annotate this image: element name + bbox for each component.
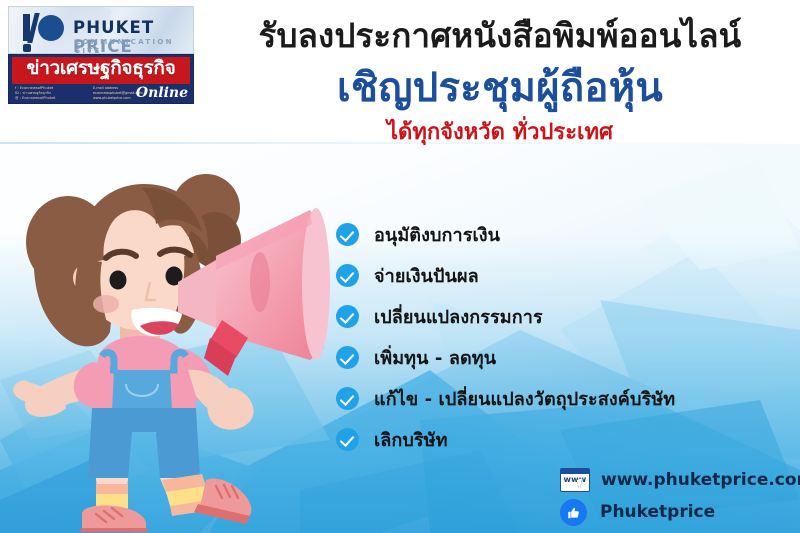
logo-upper-panel: PHUKET PRICE COMMUNICATION SITE (8, 6, 194, 54)
headline-secondary: เชิญประชุมผู้ถือหุ้น (200, 62, 800, 114)
list-item[interactable]: เปลี่ยนแปลงกรรมการ (336, 296, 756, 337)
poster-canvas: PHUKET PRICE COMMUNICATION SITE ข่าวเศรษ… (0, 0, 800, 533)
check-circle-icon (336, 223, 359, 246)
website-row[interactable]: www www.phuketprice.com (560, 464, 800, 496)
logo-online-label: Online (136, 85, 188, 101)
check-circle-icon (336, 305, 359, 328)
headline-tagline: ได้ทุกจังหวัด ทั่วประเทศ (200, 118, 800, 148)
headline-primary: รับลงประกาศหนังสือพิมพ์ออนไลน์ (200, 14, 800, 58)
list-item-label: เพิ่มทุน - ลดทุน (374, 343, 496, 372)
check-circle-icon (336, 346, 359, 369)
logo-banner-thai: ข่าวเศรษฐกิจธุรกิจ (15, 55, 187, 82)
check-circle-icon (336, 264, 359, 287)
logo-k-dot-icon (23, 44, 31, 52)
list-item-label: เปลี่ยนแปลงกรรมการ (374, 302, 543, 331)
list-item-label: อนุมัติงบการเงิน (374, 220, 500, 249)
browser-www-icon: www (560, 468, 590, 492)
list-item-label: จ่ายเงินปันผล (374, 261, 479, 290)
list-item[interactable]: เลิกบริษัท (336, 419, 756, 460)
list-item-label: เลิกบริษัท (374, 425, 448, 454)
logo-brand-primary: PHUKET (73, 18, 154, 37)
list-item[interactable]: แก้ไข - เปลี่ยนแปลงวัตถุประสงค์บริษัท (336, 378, 756, 419)
facebook-row[interactable]: Phuketprice (560, 496, 800, 528)
check-circle-icon (336, 428, 359, 451)
browser-titlebar (561, 469, 589, 474)
browser-www-label: www (561, 475, 589, 484)
list-item[interactable]: อนุมัติงบการเงิน (336, 214, 756, 255)
logo-bottom-edge (8, 104, 194, 116)
facebook-thumbs-up-icon (560, 499, 587, 526)
brand-logo[interactable]: PHUKET PRICE COMMUNICATION SITE ข่าวเศรษ… (8, 6, 194, 118)
benefits-checklist: อนุมัติงบการเงิน จ่ายเงินปันผล เปลี่ยนแป… (336, 214, 756, 460)
logo-lower-panel: ข่าวเศรษฐกิจธุรกิจ f : EconnewsofPhuket … (8, 54, 194, 104)
list-item[interactable]: จ่ายเงินปันผล (336, 255, 756, 296)
website-label: www.phuketprice.com (601, 470, 800, 490)
list-item-label: แก้ไข - เปลี่ยนแปลงวัตถุประสงค์บริษัท (374, 384, 675, 413)
list-item[interactable]: เพิ่มทุน - ลดทุน (336, 337, 756, 378)
facebook-label: Phuketprice (600, 502, 715, 522)
girl-with-megaphone-illustration (10, 132, 340, 532)
logo-k-disc-icon (38, 15, 64, 41)
check-circle-icon (336, 387, 359, 410)
footer-contacts: www www.phuketprice.com Phuketprice (560, 464, 800, 528)
logo-tagline: COMMUNICATION SITE (75, 37, 193, 54)
